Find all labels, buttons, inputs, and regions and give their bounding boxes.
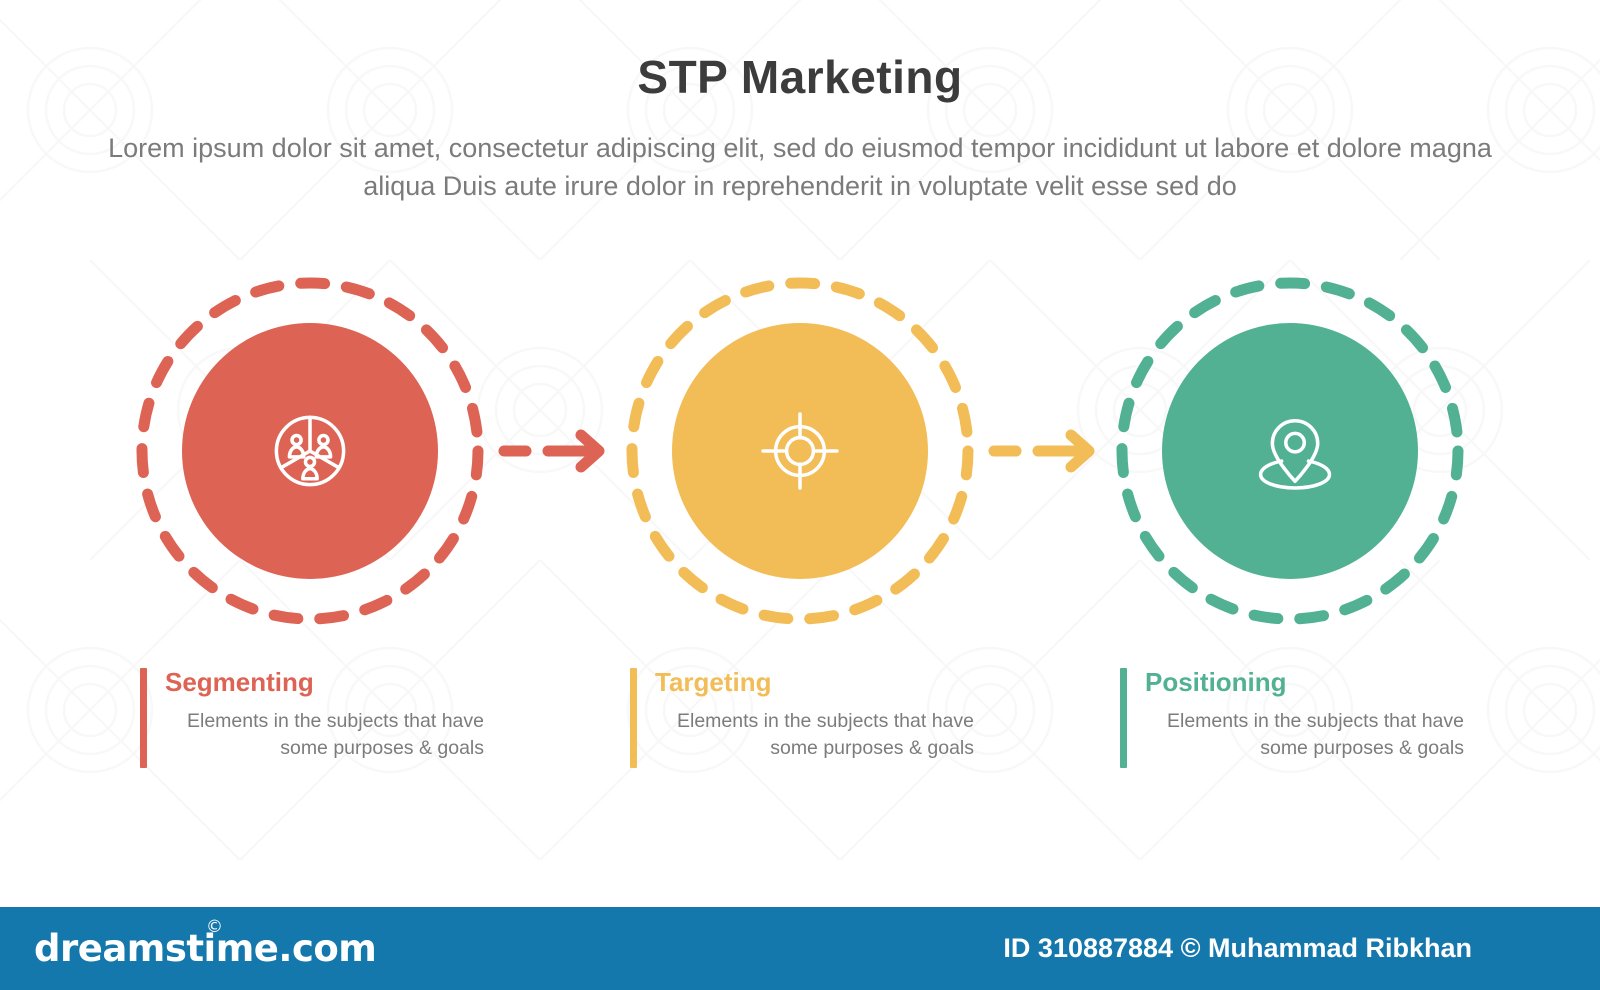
caption-title-segmenting: Segmenting xyxy=(165,668,484,698)
header: STP Marketing Lorem ipsum dolor sit amet… xyxy=(0,52,1600,205)
arrow-right-icon xyxy=(986,425,1104,477)
arrow-right-icon xyxy=(496,425,614,477)
registered-mark-icon: © xyxy=(206,917,223,937)
stage-captions-row: Segmenting Elements in the subjects that… xyxy=(0,668,1600,783)
caption-segmenting: Segmenting Elements in the subjects that… xyxy=(136,668,484,768)
connector-targeting-to-positioning xyxy=(974,421,1116,481)
stage-circle-targeting[interactable] xyxy=(626,277,974,625)
caption-desc-segmenting: Elements in the subjects that have some … xyxy=(165,708,484,761)
stage-disc-segmenting xyxy=(182,323,438,579)
crosshair-target-icon xyxy=(758,409,842,493)
page-title: STP Marketing xyxy=(0,52,1600,103)
connector-segmenting-to-targeting xyxy=(484,421,626,481)
stock-footer-bar: dreamstime.com © ID 310887884 © Muhammad… xyxy=(0,907,1600,990)
caption-title-positioning: Positioning xyxy=(1145,668,1464,698)
stage-circles-row xyxy=(0,276,1600,626)
caption-targeting: Targeting Elements in the subjects that … xyxy=(626,668,974,768)
caption-accent-bar xyxy=(1120,668,1127,768)
caption-text-block: Segmenting Elements in the subjects that… xyxy=(147,668,484,768)
map-pin-location-icon xyxy=(1248,409,1332,493)
people-segments-icon xyxy=(268,409,352,493)
caption-text-block: Targeting Elements in the subjects that … xyxy=(637,668,974,768)
caption-desc-targeting: Elements in the subjects that have some … xyxy=(655,708,974,761)
page-subtitle: Lorem ipsum dolor sit amet, consectetur … xyxy=(85,129,1515,206)
stage-circle-positioning[interactable] xyxy=(1116,277,1464,625)
caption-text-block: Positioning Elements in the subjects tha… xyxy=(1127,668,1464,768)
dreamstime-logo[interactable]: dreamstime.com © xyxy=(34,927,376,970)
caption-desc-positioning: Elements in the subjects that have some … xyxy=(1145,708,1464,761)
caption-accent-bar xyxy=(140,668,147,768)
stage-disc-targeting xyxy=(672,323,928,579)
caption-title-targeting: Targeting xyxy=(655,668,974,698)
stage-disc-positioning xyxy=(1162,323,1418,579)
stage-circle-segmenting[interactable] xyxy=(136,277,484,625)
infographic-canvas: STP Marketing Lorem ipsum dolor sit amet… xyxy=(0,0,1600,990)
image-credit: ID 310887884 © Muhammad Ribkhan xyxy=(1003,933,1572,964)
caption-positioning: Positioning Elements in the subjects tha… xyxy=(1116,668,1464,768)
caption-accent-bar xyxy=(630,668,637,768)
